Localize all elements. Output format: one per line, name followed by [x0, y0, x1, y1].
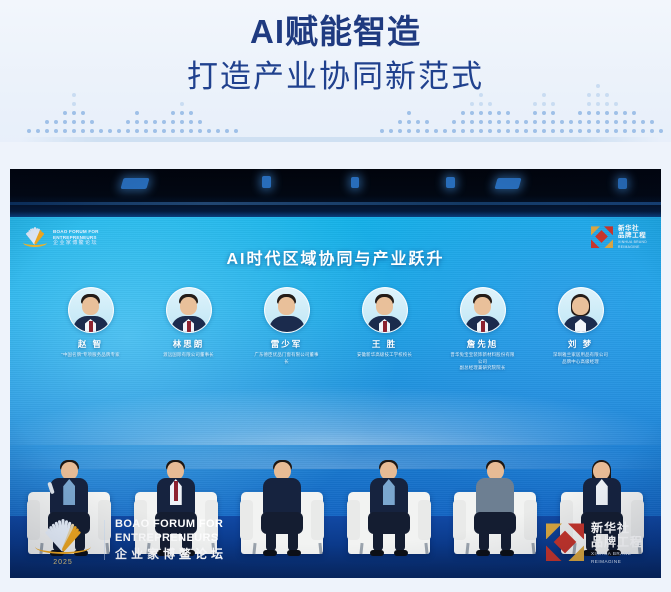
stage-light: [120, 178, 149, 189]
panelist-org: 晋华兔宝宝装饰新材料股份有限公司副总经理兼研究院院长: [449, 352, 517, 372]
avatar: [558, 287, 604, 333]
panelist-name: 詹先旭: [449, 338, 517, 350]
avatar: [362, 287, 408, 333]
panelist-name: 刘 梦: [547, 338, 615, 350]
stage-light: [494, 178, 521, 189]
avatar: [460, 287, 506, 333]
xinhua-en-line2: REIMAGINE: [591, 559, 643, 564]
boao-fan-icon: 2025: [32, 518, 94, 562]
lighting-truss: [10, 202, 661, 205]
page-title-main: AI赋能智造: [0, 10, 671, 54]
panelist-org: 安徽新华高级技工学校校长: [351, 352, 419, 359]
xinhua-cn-line1: 新华社: [591, 521, 643, 535]
panelist-avatar-row: 赵 智“中国名牌”专项服务品牌专家林思朗渡远国际有限公司董事长雷少军广东德臣优品…: [10, 287, 661, 372]
stage-light: [618, 178, 627, 189]
logo-divider: [104, 520, 105, 560]
boao-en-line1: BOAO FORUM FOR: [115, 518, 227, 531]
avatar: [264, 287, 310, 333]
photo-bottom-logo-bar: 2025 BOAO FORUM FOR ENTREPRENEURS 企业家博鳌论…: [10, 506, 661, 578]
xinhua-cn-line2: 品牌工程: [618, 232, 647, 239]
panelist-name: 林思朗: [155, 338, 223, 350]
panelist-org: 广东德臣优品门窗有限公司董事长: [253, 352, 321, 365]
panelist-org: “中国名牌”专项服务品牌专家: [57, 352, 125, 359]
event-photo: BOAO FORUM FOR ENTREPRENEURS 企业家博鳌论坛 新华社…: [10, 169, 661, 578]
venue-ceiling: [10, 169, 661, 217]
bottom-logo-xinhua: 新华社 品牌工程 XINHUA BRAND REIMAGINE: [546, 521, 643, 564]
avatar: [68, 287, 114, 333]
panelist-org: 渡远国际有限公司董事长: [155, 352, 223, 359]
stage-banner-title: AI时代区域协同与产业跃升: [10, 245, 661, 269]
stage-light: [446, 177, 455, 188]
panelist-name: 赵 智: [57, 338, 125, 350]
panelist-card: 詹先旭晋华兔宝宝装饰新材料股份有限公司副总经理兼研究院院长: [449, 287, 517, 372]
boao-year: 2025: [32, 559, 94, 566]
panelist-card: 赵 智“中国名牌”专项服务品牌专家: [57, 287, 125, 372]
panelist-card: 王 胜安徽新华高级技工学校校长: [351, 287, 419, 372]
header-bottom-fade: [0, 142, 671, 168]
panelist-name: 王 胜: [351, 338, 419, 350]
boao-cn-line: 企业家博鳌论坛: [115, 547, 227, 562]
panelist-card: 林思朗渡远国际有限公司董事长: [155, 287, 223, 372]
boao-en-line2: ENTREPRENEURS: [53, 235, 99, 240]
page-title-sub: 打造产业协同新范式: [0, 54, 671, 100]
bottom-logo-boao: 2025 BOAO FORUM FOR ENTREPRENEURS 企业家博鳌论…: [32, 518, 227, 562]
panelist-name: 雷少军: [253, 338, 321, 350]
stage-light: [262, 176, 271, 188]
avatar: [166, 287, 212, 333]
header-title-block: AI赋能智造 打造产业协同新范式: [0, 0, 671, 100]
boao-en-line2: ENTREPRENEURS: [115, 532, 227, 545]
xinhua-cn-line2: 品牌工程: [591, 535, 643, 549]
page-header: AI赋能智造 打造产业协同新范式: [0, 0, 671, 168]
panelist-card: 刘 梦深圳雅兰家居用品有限公司品牌中心高级经理: [547, 287, 615, 372]
panelist-org: 深圳雅兰家居用品有限公司品牌中心高级经理: [547, 352, 615, 365]
panelist-card: 雷少军广东德臣优品门窗有限公司董事长: [253, 287, 321, 372]
xinhua-en-line1: XINHUA BRAND: [591, 551, 643, 556]
xinhua-diamond-icon: [546, 523, 584, 561]
boao-en-line1: BOAO FORUM FOR: [53, 229, 99, 234]
stage-light: [351, 177, 359, 188]
led-wave-graphic: [10, 385, 661, 445]
